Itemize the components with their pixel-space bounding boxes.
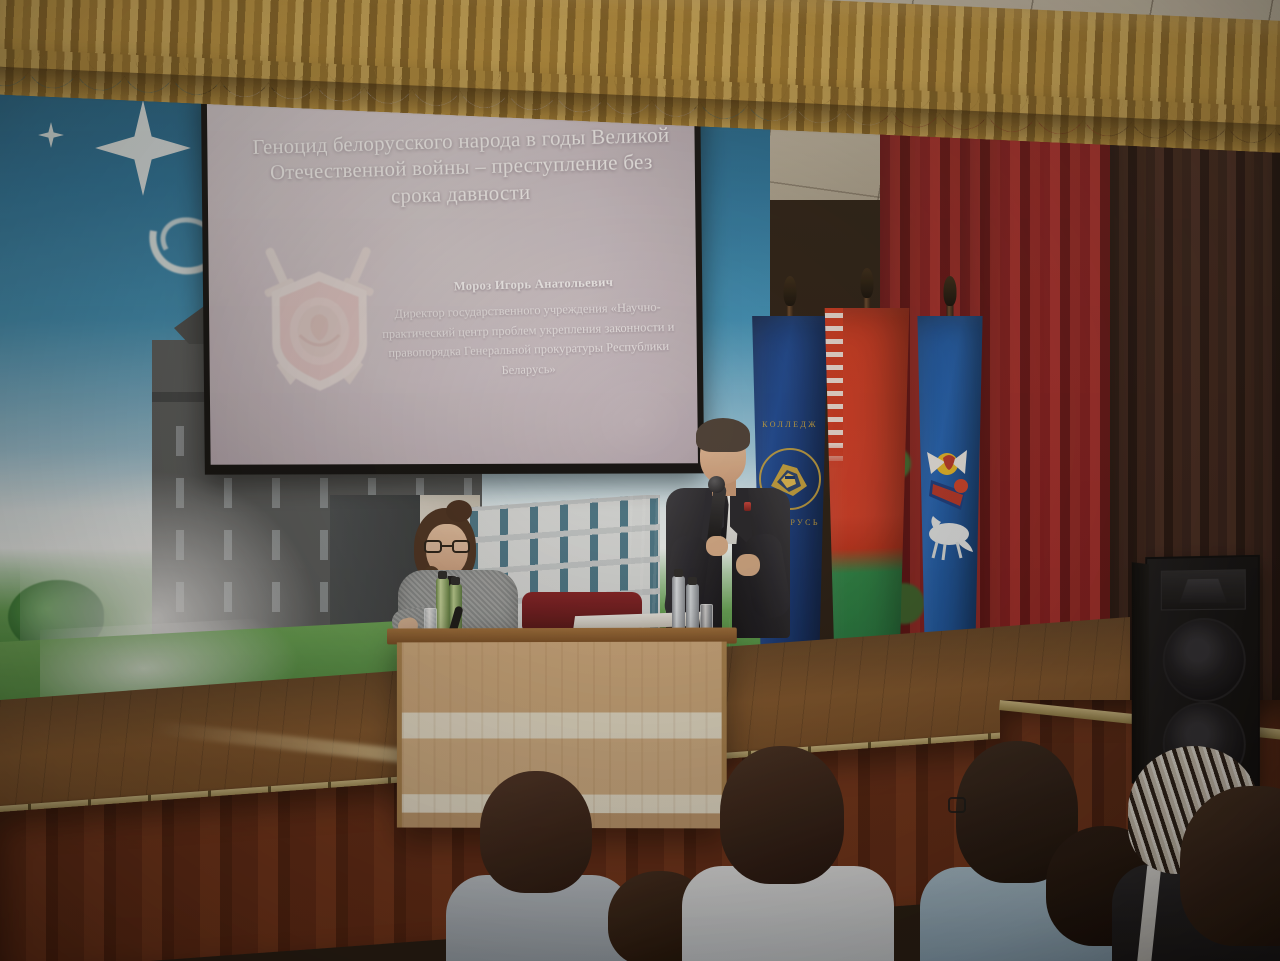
lapel-pin-icon [744,502,751,511]
speaker-woofer [1163,618,1246,703]
slide-affiliation: Директор государственного учреждения «На… [366,297,692,384]
head [480,771,592,893]
audience-member-7 [1180,786,1280,961]
hall-photo-scene: КОЛЛЕДЖ БЕЛАРУСЬ [0,0,1280,961]
water-bottle [436,578,449,634]
coat-of-arms-icon [921,434,979,584]
speaker-horn-tweeter [1161,569,1246,610]
flag-finial [944,276,957,306]
head [720,746,844,884]
hand-right [736,554,760,576]
water-bottle [672,576,685,634]
flag-finial [784,276,797,306]
flag-finial [861,268,874,298]
hair-bun [446,500,472,522]
gold-valance-pelmet [0,0,1280,150]
hair [696,418,750,452]
hand-holding-microphone [706,536,728,556]
head [1180,786,1280,946]
water-bottle [686,584,699,634]
eyeglasses-icon [424,540,470,553]
audience-member-2 [690,746,880,961]
slide-author: Мороз Игорь Анатольевич [386,273,682,296]
eyeglasses-icon [948,797,966,813]
prosecutor-shield-icon [255,239,383,399]
